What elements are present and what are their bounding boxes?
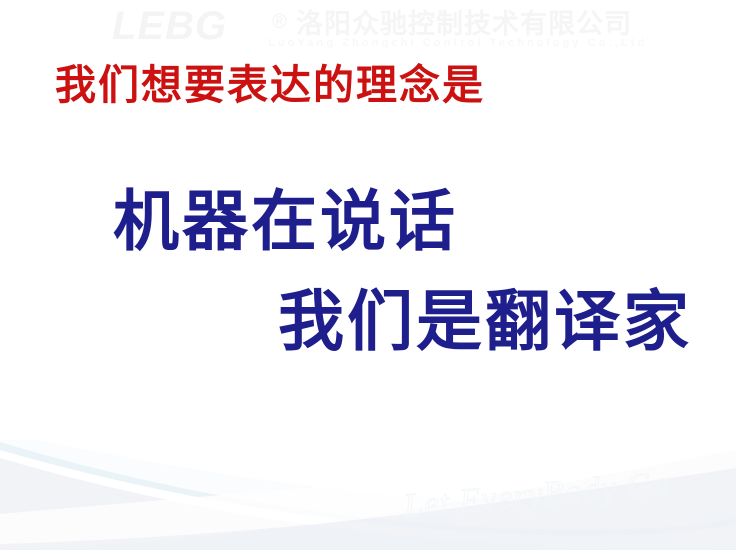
slide-body-line-1: 机器在说话 bbox=[113, 182, 458, 260]
wave-path-light bbox=[0, 440, 736, 533]
registered-trademark-icon: ® bbox=[272, 12, 287, 32]
wave-path-mid bbox=[0, 450, 736, 550]
footer-watermark-text: Let EveryBody Go bbox=[402, 464, 672, 527]
slide-body-line-2: 我们是翻译家 bbox=[278, 282, 692, 360]
wave-path-white bbox=[0, 448, 736, 544]
wave-path-base bbox=[0, 458, 736, 550]
slide-canvas: LEBG ® 洛阳众驰控制技术有限公司 LuoYang Zhongchi Con… bbox=[0, 0, 736, 550]
wave-graphic bbox=[0, 440, 736, 550]
company-name-en-watermark: LuoYang Zhongchi Control Technology Co.,… bbox=[268, 37, 647, 49]
watermark-header: LEBG ® 洛阳众驰控制技术有限公司 LuoYang Zhongchi Con… bbox=[0, 0, 736, 52]
lebg-logo-watermark: LEBG bbox=[112, 6, 227, 46]
wave-path-blue bbox=[0, 442, 736, 535]
company-name-cn-watermark: 洛阳众驰控制技术有限公司 bbox=[296, 9, 632, 39]
slide-heading: 我们想要表达的理念是 bbox=[55, 60, 485, 110]
bottom-wave-decoration bbox=[0, 440, 736, 550]
footer-watermark: Let EveryBody Go bbox=[404, 487, 736, 537]
